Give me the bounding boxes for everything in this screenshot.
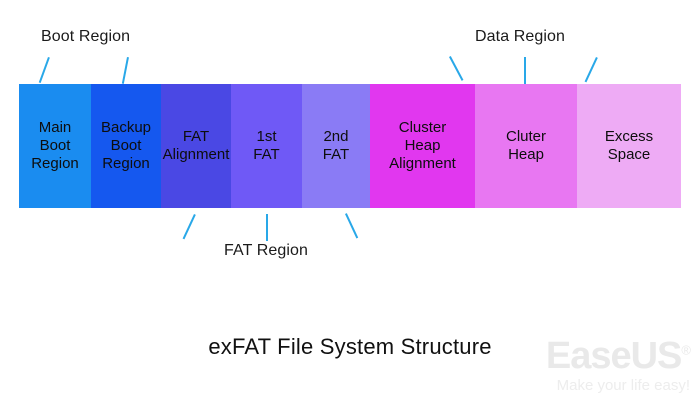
band-second-fat: 2ndFAT: [302, 84, 370, 208]
registered-trademark-icon: ®: [681, 342, 690, 357]
band-label-line: Excess: [605, 128, 653, 146]
band-main-boot-region: MainBootRegion: [19, 84, 91, 208]
leader-fat-first: [266, 214, 268, 241]
band-fat-alignment: FATAlignment: [161, 84, 231, 208]
band-label-line: Heap: [506, 146, 546, 164]
leader-data-excess-space: [585, 57, 598, 82]
leader-fat-second: [345, 213, 358, 238]
band-label: CluterHeap: [506, 128, 546, 163]
band-label-line: Alignment: [389, 155, 456, 173]
band-label-line: FAT: [323, 146, 349, 164]
leader-data-cluster-heap-alignment: [449, 56, 463, 81]
band-excess-space: ExcessSpace: [577, 84, 681, 208]
band-label-line: Boot: [31, 137, 79, 155]
exfat-band-strip: MainBootRegionBackupBootRegionFATAlignme…: [19, 84, 681, 208]
band-label: MainBootRegion: [31, 119, 79, 172]
band-label-line: Alignment: [163, 146, 230, 164]
band-label-line: Main: [31, 119, 79, 137]
band-label-line: Boot: [101, 137, 151, 155]
band-label: BackupBootRegion: [101, 119, 151, 172]
group-label-boot-region: Boot Region: [41, 28, 130, 46]
leader-boot-backup: [122, 57, 129, 84]
band-label-line: Backup: [101, 119, 151, 137]
band-cluter-heap: CluterHeap: [475, 84, 577, 208]
diagram-canvas: Boot Region Data Region FAT Region MainB…: [0, 0, 700, 401]
watermark: EaseUS® Make your life easy!: [546, 337, 690, 395]
band-backup-boot-region: BackupBootRegion: [91, 84, 161, 208]
band-first-fat: 1stFAT: [231, 84, 302, 208]
band-label-line: Heap: [389, 137, 456, 155]
band-label: 1stFAT: [253, 128, 279, 163]
band-label-line: Cluter: [506, 128, 546, 146]
band-label-line: FAT: [163, 128, 230, 146]
band-label-line: Region: [31, 155, 79, 173]
group-label-data-region: Data Region: [475, 28, 565, 46]
group-label-fat-region: FAT Region: [224, 242, 308, 260]
leader-data-cluter-heap: [524, 57, 526, 84]
band-label: 2ndFAT: [323, 128, 349, 163]
leader-boot-main: [39, 57, 50, 83]
band-label-line: FAT: [253, 146, 279, 164]
watermark-brand-text: EaseUS: [546, 335, 682, 377]
band-label: FATAlignment: [163, 128, 230, 163]
band-label-line: Cluster: [389, 119, 456, 137]
band-label-line: Space: [605, 146, 653, 164]
band-label-line: 2nd: [323, 128, 349, 146]
watermark-tagline: Make your life easy!: [546, 377, 690, 395]
band-label: ClusterHeapAlignment: [389, 119, 456, 172]
band-label: ExcessSpace: [605, 128, 653, 163]
band-label-line: 1st: [253, 128, 279, 146]
band-label-line: Region: [101, 155, 151, 173]
leader-fat-alignment: [183, 214, 196, 239]
watermark-brand: EaseUS®: [546, 337, 690, 375]
band-cluster-heap-alignment: ClusterHeapAlignment: [370, 84, 475, 208]
